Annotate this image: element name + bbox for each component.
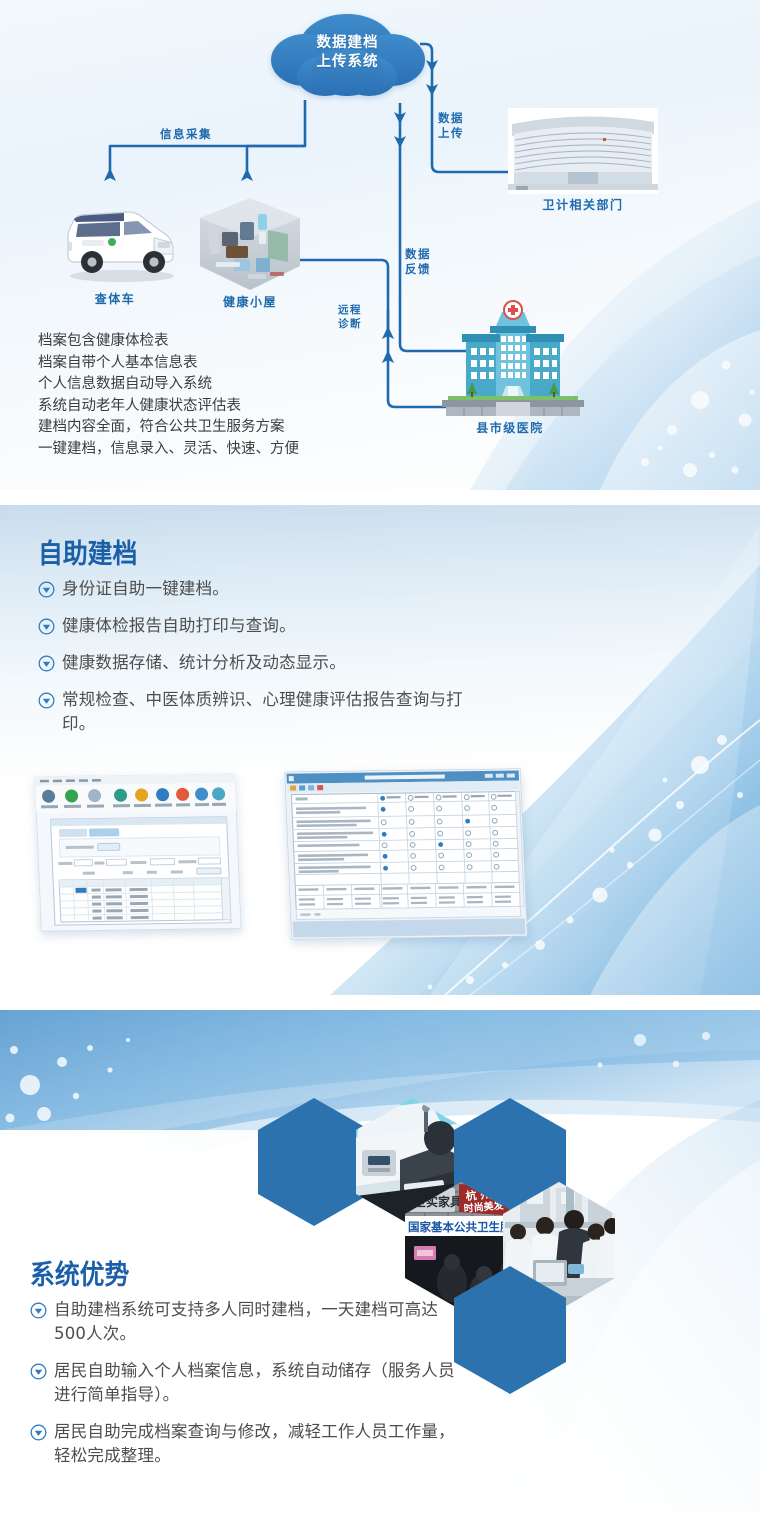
- bullet-text: 健康体检报告自助打印与查询。: [62, 614, 296, 638]
- section2-bullet-list: 身份证自助一键建档。 健康体检报告自助打印与查询。 健康数据存储、统计分析及动态…: [38, 577, 478, 749]
- screenshot-archive-list[interactable]: [35, 774, 242, 932]
- flow-label-collect: 信息采集: [160, 128, 212, 143]
- feature-line: 档案自带个人基本信息表: [38, 353, 378, 375]
- feature-line: 档案包含健康体检表: [38, 331, 378, 353]
- chevron-down-circle-icon: [30, 1302, 47, 1319]
- screenshot-assessment-form[interactable]: [284, 768, 527, 939]
- node-label-hospital: 县市级医院: [450, 419, 570, 436]
- section-self-service-archiving: 自助建档 身份证自助一键建档。 健康体检报告自助打印与查询。 健康数据存储、统计…: [0, 505, 760, 995]
- feature-line: 一键建档，信息录入、灵活、快速、方便: [38, 439, 378, 461]
- feature-line: 个人信息数据自动导入系统: [38, 374, 378, 396]
- node-label-department: 卫计相关部门: [508, 196, 658, 213]
- chevron-down-circle-icon: [38, 655, 55, 672]
- flow-label-feedback: 数据 反馈: [405, 248, 431, 278]
- cloud-node-upload-system: 数据建档 上传系统: [265, 8, 430, 108]
- list-item: 居民自助完成档案查询与修改，减轻工作人员工作量，轻松完成整理。: [30, 1420, 460, 1468]
- chevron-down-circle-icon: [38, 618, 55, 635]
- flow-label-remote: 远程 诊断: [338, 303, 362, 331]
- bullet-text: 常规检查、中医体质辨识、心理健康评估报告查询与打印。: [62, 688, 478, 736]
- chevron-down-circle-icon: [30, 1363, 47, 1380]
- feature-list: 档案包含健康体检表 档案自带个人基本信息表 个人信息数据自动导入系统 系统自动老…: [38, 331, 378, 460]
- hex-plain-left: [258, 1098, 370, 1226]
- section2-heading: 自助建档: [38, 532, 137, 571]
- node-label-van: 查体车: [75, 290, 155, 307]
- bullet-text: 自助建档系统可支持多人同时建档，一天建档可高达500人次。: [54, 1298, 460, 1346]
- bullet-text: 身份证自助一键建档。: [62, 577, 229, 601]
- flow-label-upload: 数据 上传: [438, 112, 464, 142]
- chevron-down-circle-icon: [30, 1424, 47, 1441]
- bullet-text: 健康数据存储、统计分析及动态显示。: [62, 651, 346, 675]
- section3-bullet-list: 自助建档系统可支持多人同时建档，一天建档可高达500人次。 居民自助输入个人档案…: [30, 1298, 460, 1481]
- section3-heading: 系统优势: [30, 1253, 129, 1292]
- list-item: 居民自助输入个人档案信息，系统自动储存（服务人员进行简单指导）。: [30, 1359, 460, 1407]
- feature-line: 系统自动老年人健康状态评估表: [38, 396, 378, 418]
- bullet-text: 居民自助输入个人档案信息，系统自动储存（服务人员进行简单指导）。: [54, 1359, 460, 1407]
- chevron-down-circle-icon: [38, 692, 55, 709]
- list-item: 自助建档系统可支持多人同时建档，一天建档可高达500人次。: [30, 1298, 460, 1346]
- section-data-archiving-flow: 数据建档 上传系统 信息采集 数据 上传 数据 反馈 远程 诊断: [0, 0, 760, 490]
- list-item: 健康数据存储、统计分析及动态显示。: [38, 651, 478, 675]
- node-label-hut: 健康小屋: [205, 293, 295, 310]
- section-system-advantages: 全实家具 杭 州 时尚美发 国家基本公共卫生服务车: [0, 1010, 760, 1513]
- list-item: 健康体检报告自助打印与查询。: [38, 614, 478, 638]
- bullet-text: 居民自助完成档案查询与修改，减轻工作人员工作量，轻松完成整理。: [54, 1420, 460, 1468]
- list-item: 常规检查、中医体质辨识、心理健康评估报告查询与打印。: [38, 688, 478, 736]
- list-item: 身份证自助一键建档。: [38, 577, 478, 601]
- feature-line: 建档内容全面，符合公共卫生服务方案: [38, 417, 378, 439]
- chevron-down-circle-icon: [38, 581, 55, 598]
- cloud-label: 数据建档 上传系统: [265, 34, 430, 72]
